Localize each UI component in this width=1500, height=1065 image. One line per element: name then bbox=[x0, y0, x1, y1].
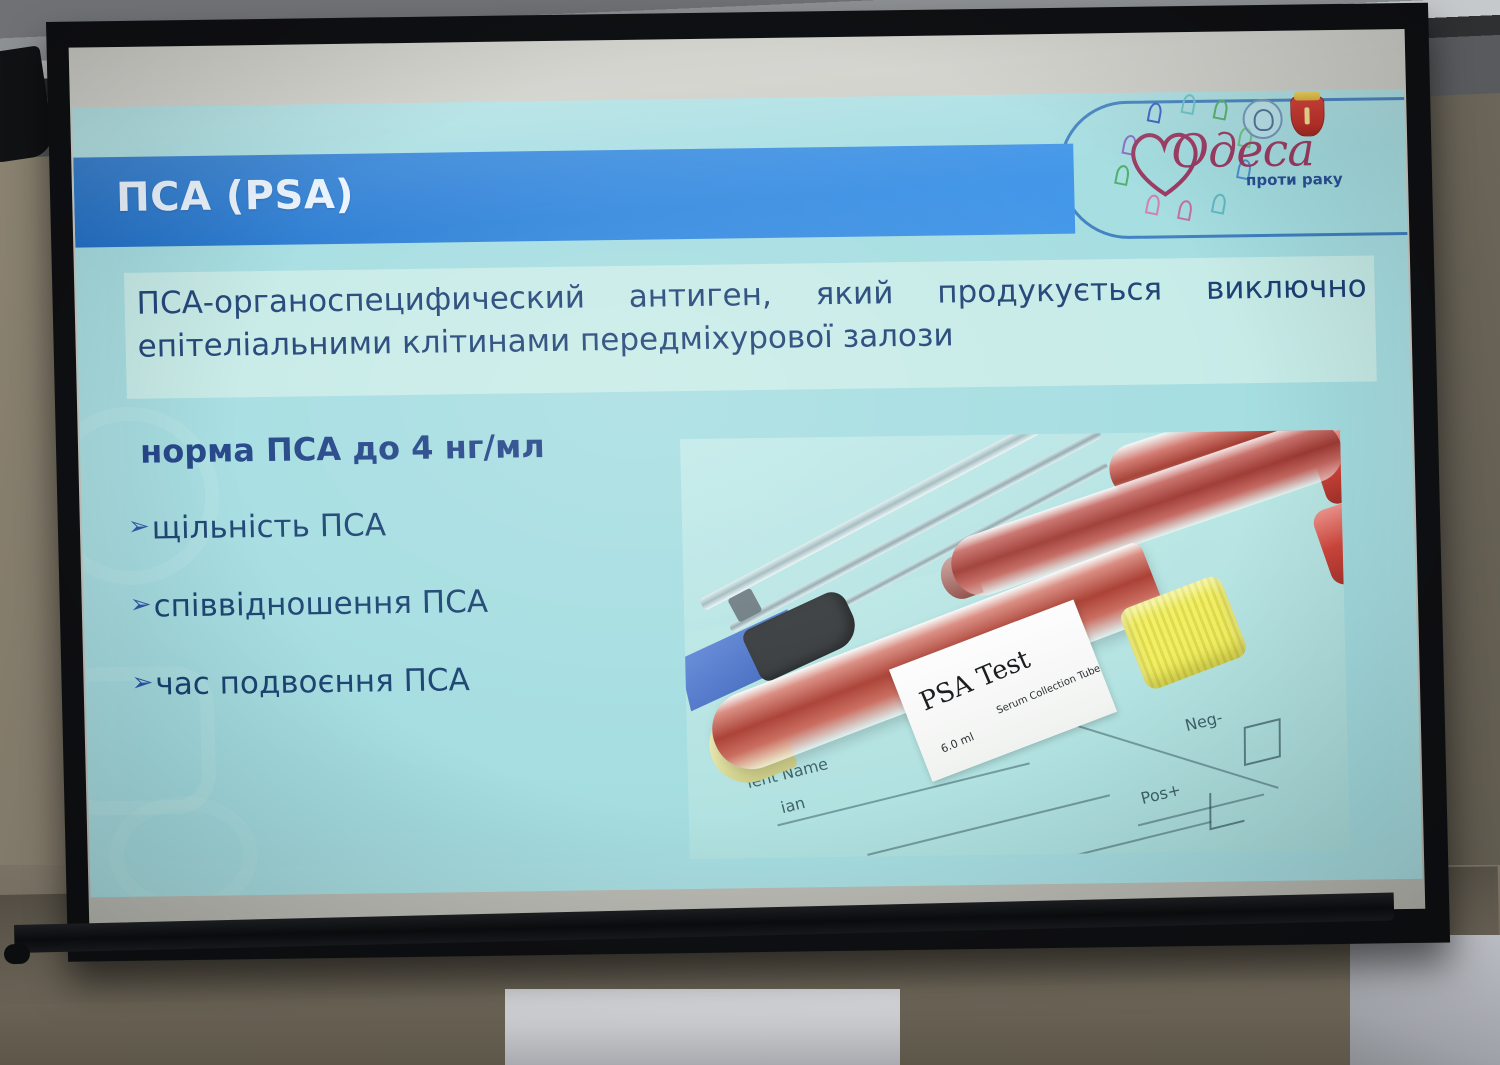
chevron-bullet-icon: ➢ bbox=[129, 589, 152, 622]
chevron-bullet-icon: ➢ bbox=[128, 511, 151, 544]
awareness-ribbon-icon bbox=[1177, 199, 1193, 221]
logo-tagline: проти раку bbox=[1246, 170, 1343, 189]
table-front bbox=[505, 989, 900, 1065]
room-scene: ПСА (PSA) bbox=[0, 0, 1500, 1065]
projection-screen: ПСА (PSA) bbox=[46, 3, 1450, 962]
screen-bar-knob bbox=[4, 944, 30, 965]
awareness-ribbon-icon bbox=[1213, 99, 1229, 121]
norm-line: норма ПСА до 4 нг/мл bbox=[140, 427, 545, 471]
form-line bbox=[969, 821, 1212, 859]
slide-title: ПСА (PSA) bbox=[116, 172, 355, 221]
list-item: ➢ час подвоєння ПСА bbox=[131, 658, 752, 703]
label-volume: 6.0 ml bbox=[939, 730, 976, 755]
awareness-ribbon-icon bbox=[1147, 101, 1163, 123]
list-item-label: щільність ПСА bbox=[151, 507, 386, 546]
bullet-list: ➢ щільність ПСА ➢ співвідношення ПСА ➢ ч… bbox=[128, 502, 753, 745]
list-item: ➢ співвідношення ПСА bbox=[129, 580, 750, 625]
slide-title-band: ПСА (PSA) bbox=[73, 144, 1075, 248]
awareness-ribbon-icon bbox=[1181, 93, 1197, 115]
psa-test-photo: ient Name ian Pos+ Neg- bbox=[680, 430, 1350, 859]
form-line bbox=[867, 794, 1110, 856]
odesa-coat-of-arms-icon bbox=[1290, 96, 1325, 136]
list-item-label: час подвоєння ПСА bbox=[155, 662, 470, 702]
list-item-label: співвідношення ПСА bbox=[153, 584, 488, 625]
intro-paragraph: ПСА-органоспецифический антиген, який пр… bbox=[136, 266, 1368, 369]
screen-surface: ПСА (PSA) bbox=[69, 29, 1426, 927]
chevron-bullet-icon: ➢ bbox=[131, 667, 154, 700]
table-right bbox=[1350, 935, 1500, 1065]
presentation-slide: ПСА (PSA) bbox=[72, 89, 1423, 897]
odesa-against-cancer-logo: Одеса проти раку bbox=[1114, 96, 1347, 219]
list-item: ➢ щільність ПСА bbox=[128, 502, 749, 547]
awareness-ribbon-icon bbox=[1211, 193, 1227, 215]
